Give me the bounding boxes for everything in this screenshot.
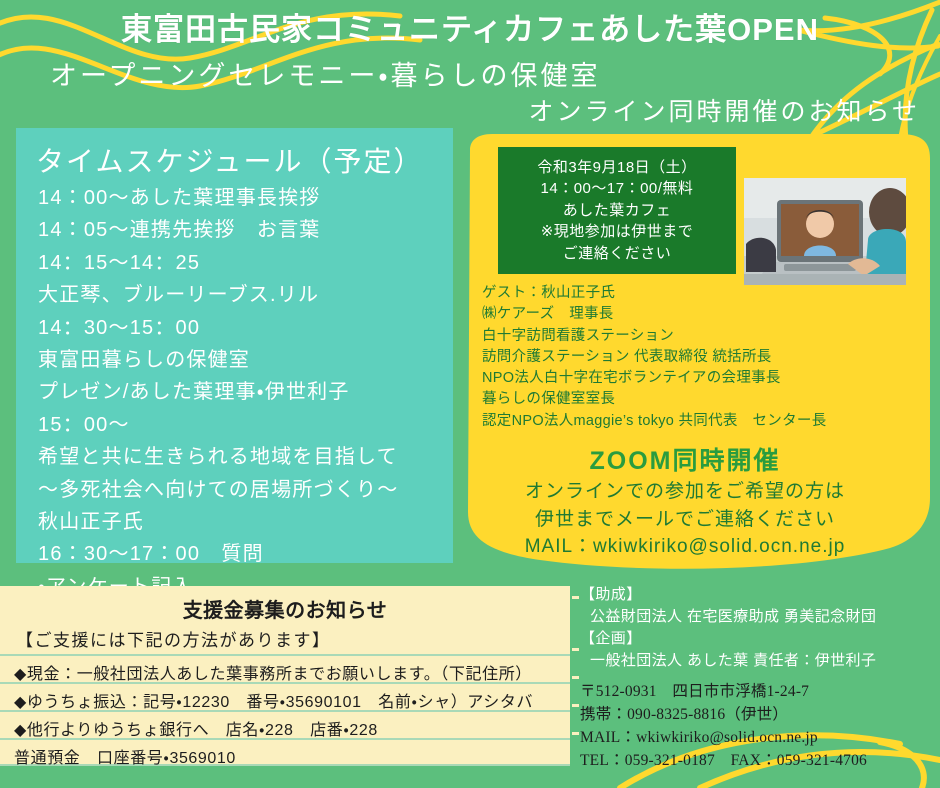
guest-line: ゲスト：秋山正子氏 — [482, 283, 922, 304]
header-title-line3: オンライン同時開催のお知らせ — [0, 92, 920, 128]
guest-line: ㈱ケアーズ 理事長 — [482, 304, 922, 325]
donation-panel: 支援金募集のお知らせ 【ご支援には下記の方法があります】 ◆現金：一般社団法人あ… — [0, 586, 570, 766]
schedule-panel: タイムスケジュール（予定） 14：00〜あした葉理事長挨拶 14：05〜連携先挨… — [16, 128, 453, 563]
schedule-item: 東富田暮らしの保健室 — [38, 344, 448, 376]
donation-rows: ◆現金：一般社団法人あした葉事務所までお願いします。（下記住所） ◆ゆうちょ振込… — [0, 654, 570, 766]
plan-label: 【企画】 — [580, 628, 940, 650]
donation-subtitle: 【ご支援には下記の方法があります】 — [16, 626, 331, 651]
guest-line: 暮らしの保健室室長 — [482, 389, 922, 410]
edge-tick — [572, 596, 579, 599]
contact-address: 〒512-0931 四日市市浮橋1-24-7 — [580, 680, 940, 703]
zoom-section-lines: オンラインでの参加をご希望の方は 伊世までメールでご連絡ください MAIL：wk… — [455, 478, 915, 561]
schedule-item: 〜多死社会へ向けての居場所づくり〜 — [38, 474, 448, 506]
contact-panel: 【助成】 公益財団法人 在宅医療助成 勇美記念財団 【企画】 一般社団法人 あし… — [580, 584, 940, 784]
guest-line: 白十字訪問看護ステーション — [482, 326, 922, 347]
video-call-photo — [744, 178, 906, 285]
header-title-line2: オープニングセレモニー・暮らしの保健室 — [50, 54, 730, 93]
guest-list: ゲスト：秋山正子氏 ㈱ケアーズ 理事長 白十字訪問看護ステーション 訪問介護ステ… — [482, 283, 922, 432]
edge-tick — [572, 704, 579, 707]
schedule-list: 14：00〜あした葉理事長挨拶 14：05〜連携先挨拶 お言葉 14：15〜14… — [38, 182, 448, 603]
event-note-1: ※現地参加は伊世まで — [541, 221, 694, 243]
schedule-item: プレゼン/あした葉理事・伊世利子 — [38, 376, 448, 408]
zoom-instruction-2: 伊世までメールでご連絡ください — [455, 506, 915, 534]
event-date-box: 令和3年9月18日（土） 14：00〜17：00/無料 あした葉カフェ ※現地参… — [498, 147, 736, 274]
event-note-2: ご連絡ください — [563, 243, 672, 265]
edge-tick — [572, 676, 579, 679]
guest-line: 訪問介護ステーション 代表取締役 統括所長 — [482, 347, 922, 368]
guest-line: 認定NPO法人maggie’s tokyo 共同代表 センター長 — [482, 411, 922, 432]
grant-value: 公益財団法人 在宅医療助成 勇美記念財団 — [580, 606, 940, 628]
event-time-fee: 14：00〜17：00/無料 — [541, 178, 694, 200]
plan-value: 一般社団法人 あした葉 責任者：伊世利子 — [580, 650, 940, 672]
edge-tick — [572, 648, 579, 651]
header-title-line1: 東富田古民家コミュニティカフェあした葉OPEN — [0, 4, 940, 49]
donation-title: 支援金募集のお知らせ — [0, 594, 570, 623]
donation-row: ◆現金：一般社団法人あした葉事務所までお願いします。（下記住所） — [0, 654, 570, 682]
zoom-section-title: ZOOM同時開催 — [455, 441, 915, 477]
schedule-item: 大正琴、ブルーリーブス.リル — [38, 279, 448, 311]
zoom-instruction-1: オンラインでの参加をご希望の方は — [455, 478, 915, 506]
zoom-mail-address[interactable]: MAIL：wkiwkiriko@solid.ocn.ne.jp — [455, 533, 915, 561]
schedule-item: 秋山正子氏 — [38, 506, 448, 538]
schedule-item: 希望と共に生きられる地域を目指して — [38, 441, 448, 473]
contact-mail[interactable]: MAIL：wkiwkiriko@solid.ocn.ne.jp — [580, 726, 940, 749]
event-venue: あした葉カフェ — [563, 200, 672, 222]
donation-row: 普通預金 口座番号・3569010 — [0, 738, 570, 766]
edge-tick — [572, 732, 579, 735]
contact-mobile[interactable]: 携帯：090-8325-8816（伊世） — [580, 703, 940, 726]
donation-row: ◆ゆうちょ振込：記号・12230 番号・35690101 名前・シャ）アシタバ — [0, 682, 570, 710]
poster-root: 東富田古民家コミュニティカフェあした葉OPEN オープニングセレモニー・暮らしの… — [0, 0, 940, 788]
schedule-item: 14：15〜14：25 — [38, 247, 448, 279]
schedule-item: 15：00〜 — [38, 409, 448, 441]
contact-tel-fax[interactable]: TEL：059-321-0187 FAX：059-321-4706 — [580, 749, 940, 772]
event-date: 令和3年9月18日（土） — [537, 157, 696, 179]
donation-row: ◆他行よりゆうちょ銀行へ 店名・228 店番・228 — [0, 710, 570, 738]
schedule-item: 14：05〜連携先挨拶 お言葉 — [38, 214, 448, 246]
schedule-title: タイムスケジュール（予定） — [36, 140, 423, 180]
schedule-item: 16：30〜17：00 質問 — [38, 538, 448, 570]
grant-label: 【助成】 — [580, 584, 940, 606]
schedule-item: 14：00〜あした葉理事長挨拶 — [38, 182, 448, 214]
guest-line: NPO法人白十字在宅ボランテイアの会理事長 — [482, 368, 922, 389]
schedule-item: 14：30〜15：00 — [38, 312, 448, 344]
poster-header: 東富田古民家コミュニティカフェあした葉OPEN オープニングセレモニー・暮らしの… — [0, 0, 940, 128]
